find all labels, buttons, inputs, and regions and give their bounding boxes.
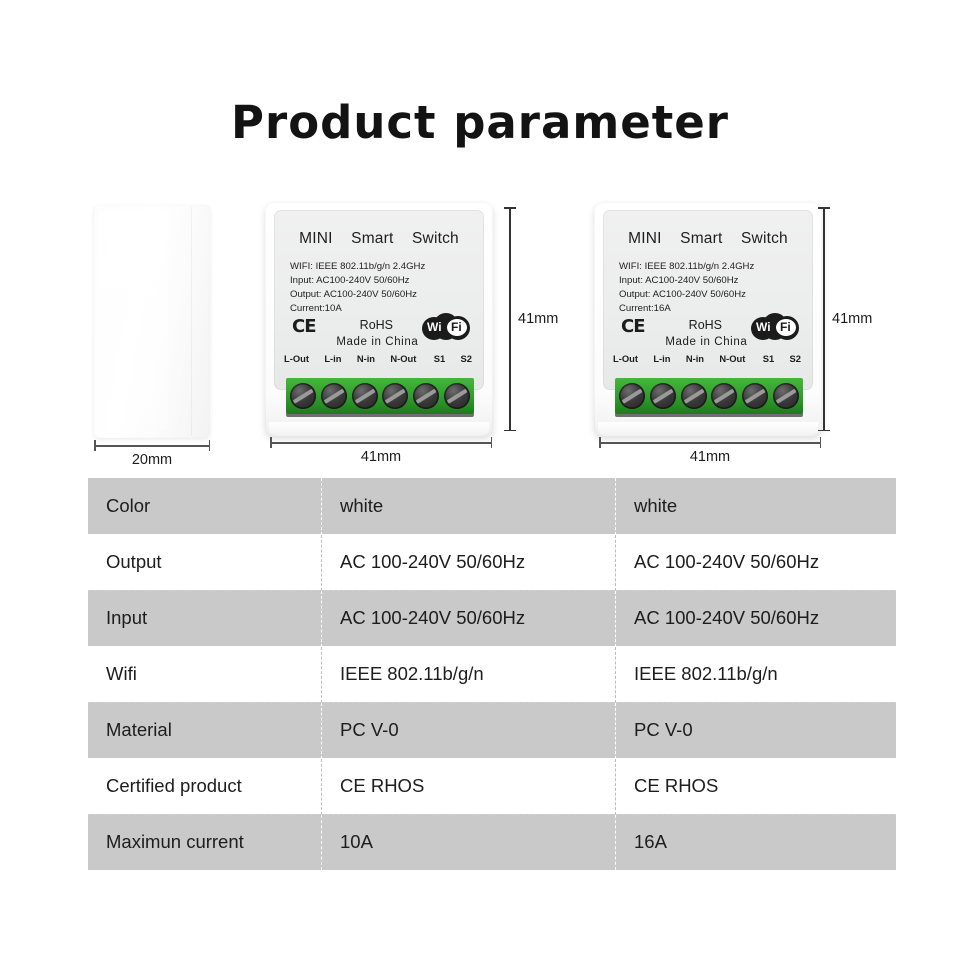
wifi-logo-icon: Wi Fi [751,313,799,343]
page-title: Product parameter [0,96,960,149]
device-spec-lines: WIFI: IEEE 802.11b/g/n 2.4GHz Input: AC1… [619,260,754,316]
terminal-block [286,378,474,414]
terminal-label-n-out: N-Out [719,353,745,364]
terminal-label-row: L-Out L-in N-in N-Out S1 S2 [613,353,805,364]
dimension-device-a-width: 41mm [270,437,492,457]
dimension-box-width: 20mm [94,440,210,460]
headline-word-switch: Switch [412,230,459,247]
dimension-tick-end [820,437,822,448]
device-headline: MINI Smart Switch [603,230,813,248]
made-in-label: Made in China [665,336,747,348]
row-value-1: AC 100-240V 50/60Hz [322,534,616,590]
dimension-label: 41mm [518,311,558,327]
row-value-1: IEEE 802.11b/g/n [322,646,616,702]
device-module-10a: MINI Smart Switch WIFI: IEEE 802.11b/g/n… [265,202,493,436]
device-certification-marks: CE RoHS Made in China Wi Fi [274,316,484,346]
row-value-2: 16A [616,814,897,870]
row-value-1: PC V-0 [322,702,616,758]
row-value-1: CE RHOS [322,758,616,814]
ce-mark-icon: CE [621,316,645,337]
dimension-tick-start [270,437,272,448]
row-label: Wifi [88,646,322,702]
device-face-panel: MINI Smart Switch WIFI: IEEE 802.11b/g/n… [274,210,484,390]
dimension-line [823,207,825,431]
terminal-label-s1: S1 [434,353,445,364]
terminal-screw [382,383,408,409]
row-value-2: PC V-0 [616,702,897,758]
table-row: Wifi IEEE 802.11b/g/n IEEE 802.11b/g/n [88,646,896,702]
terminal-label-s2: S2 [461,353,472,364]
device-spec-lines: WIFI: IEEE 802.11b/g/n 2.4GHz Input: AC1… [290,260,425,316]
dimension-tick-end [491,437,493,448]
wifi-logo-icon: Wi Fi [422,313,470,343]
dimension-line [509,207,511,431]
headline-word-mini: MINI [299,230,333,247]
row-value-2: AC 100-240V 50/60Hz [616,534,897,590]
dimension-label: 20mm [94,452,210,468]
row-label: Output [88,534,322,590]
terminal-label-n-out: N-Out [390,353,416,364]
dimension-tick-end [209,440,211,451]
terminal-screw [413,383,439,409]
rohs-mark-label: RoHS [360,318,393,332]
spec-line-current: Current:16A [619,302,754,316]
row-label: Input [88,590,322,646]
device-base [598,422,818,436]
dimension-tick-start [94,440,96,451]
row-value-1: 10A [322,814,616,870]
terminal-screw [352,383,378,409]
terminal-block [615,378,803,414]
table-row: Output AC 100-240V 50/60Hz AC 100-240V 5… [88,534,896,590]
terminal-screw [321,383,347,409]
device-module-16a: MINI Smart Switch WIFI: IEEE 802.11b/g/n… [594,202,822,436]
dimension-label: 41mm [270,449,492,465]
dimension-tick-start [504,207,516,209]
dimension-tick-start [818,207,830,209]
terminal-label-s1: S1 [763,353,774,364]
dimension-line [270,442,492,444]
specification-table: Color white white Output AC 100-240V 50/… [88,478,896,870]
table-row: Color white white [88,478,896,534]
terminal-screw [290,383,316,409]
headline-word-switch: Switch [741,230,788,247]
row-value-1: AC 100-240V 50/60Hz [322,590,616,646]
device-face-panel: MINI Smart Switch WIFI: IEEE 802.11b/g/n… [603,210,813,390]
terminal-label-n-in: N-in [686,353,704,364]
row-value-2: CE RHOS [616,758,897,814]
row-value-1: white [322,478,616,534]
dimension-tick-start [599,437,601,448]
device-base [269,422,489,436]
dimension-device-a-height: 41mm [504,207,524,431]
device-headline: MINI Smart Switch [274,230,484,248]
terminal-label-n-in: N-in [357,353,375,364]
terminal-screw [711,383,737,409]
wifi-fi-text: Fi [451,320,462,334]
made-in-label: Made in China [336,336,418,348]
device-certification-marks: CE RoHS Made in China Wi Fi [603,316,813,346]
headline-word-mini: MINI [628,230,662,247]
dimension-label: 41mm [599,449,821,465]
spec-line-current: Current:10A [290,302,425,316]
ce-mark-icon: CE [292,316,316,337]
dimension-tick-end [818,430,830,432]
row-label: Material [88,702,322,758]
dimension-label: 41mm [832,311,872,327]
rohs-mark-label: RoHS [689,318,722,332]
spec-line-output: Output: AC100-240V 50/60Hz [290,288,425,302]
table-row: Certified product CE RHOS CE RHOS [88,758,896,814]
packaging-box [94,205,210,438]
terminal-screw [619,383,645,409]
terminal-label-l-in: L-in [653,353,670,364]
wifi-fi-text: Fi [780,320,791,334]
dimension-line [94,445,210,447]
terminal-label-s2: S2 [790,353,801,364]
terminal-screw [650,383,676,409]
spec-line-wifi: WIFI: IEEE 802.11b/g/n 2.4GHz [619,260,754,274]
terminal-screw [681,383,707,409]
table-row: Maximun current 10A 16A [88,814,896,870]
terminal-label-l-out: L-Out [284,353,309,364]
wifi-wi-text: Wi [756,320,771,334]
dimension-line [599,442,821,444]
wifi-wi-text: Wi [427,320,442,334]
row-label: Maximun current [88,814,322,870]
dimension-device-b-height: 41mm [818,207,838,431]
table-row: Material PC V-0 PC V-0 [88,702,896,758]
spec-line-output: Output: AC100-240V 50/60Hz [619,288,754,302]
terminal-label-row: L-Out L-in N-in N-Out S1 S2 [284,353,476,364]
spec-line-input: Input: AC100-240V 50/60Hz [290,274,425,288]
table-row: Input AC 100-240V 50/60Hz AC 100-240V 50… [88,590,896,646]
spec-line-input: Input: AC100-240V 50/60Hz [619,274,754,288]
headline-word-smart: Smart [680,230,722,247]
spec-line-wifi: WIFI: IEEE 802.11b/g/n 2.4GHz [290,260,425,274]
terminal-label-l-in: L-in [324,353,341,364]
dimension-tick-end [504,430,516,432]
dimension-device-b-width: 41mm [599,437,821,457]
terminal-screw [444,383,470,409]
headline-word-smart: Smart [351,230,393,247]
row-label: Color [88,478,322,534]
row-value-2: white [616,478,897,534]
row-label: Certified product [88,758,322,814]
terminal-screw [742,383,768,409]
terminal-label-l-out: L-Out [613,353,638,364]
row-value-2: IEEE 802.11b/g/n [616,646,897,702]
terminal-screw [773,383,799,409]
row-value-2: AC 100-240V 50/60Hz [616,590,897,646]
